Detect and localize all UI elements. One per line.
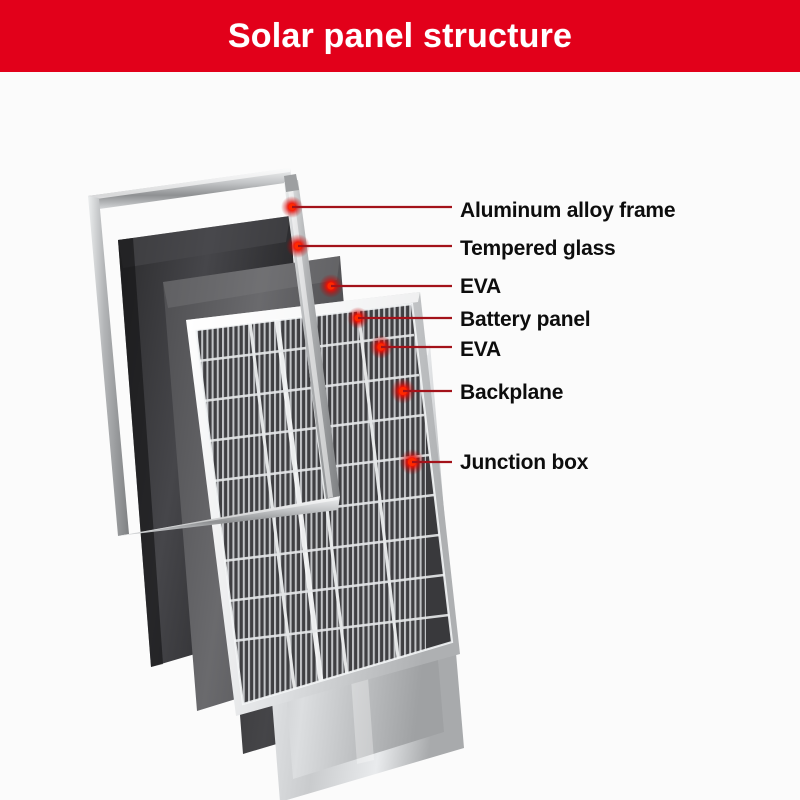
callout-label-eva-bottom: EVA xyxy=(460,339,501,360)
callout-label-junction-box: Junction box xyxy=(460,452,588,473)
page-root: Solar panel structure xyxy=(0,0,800,800)
callout-label-backplane: Backplane xyxy=(460,382,563,403)
callout-label-battery-panel: Battery panel xyxy=(460,309,590,330)
callout-label-aluminum-alloy-frame: Aluminum alloy frame xyxy=(460,200,675,221)
callout-label-tempered-glass: Tempered glass xyxy=(460,238,616,259)
callout-labels: Aluminum alloy frame Tempered glass EVA … xyxy=(0,0,800,800)
callout-label-eva-top: EVA xyxy=(460,276,501,297)
